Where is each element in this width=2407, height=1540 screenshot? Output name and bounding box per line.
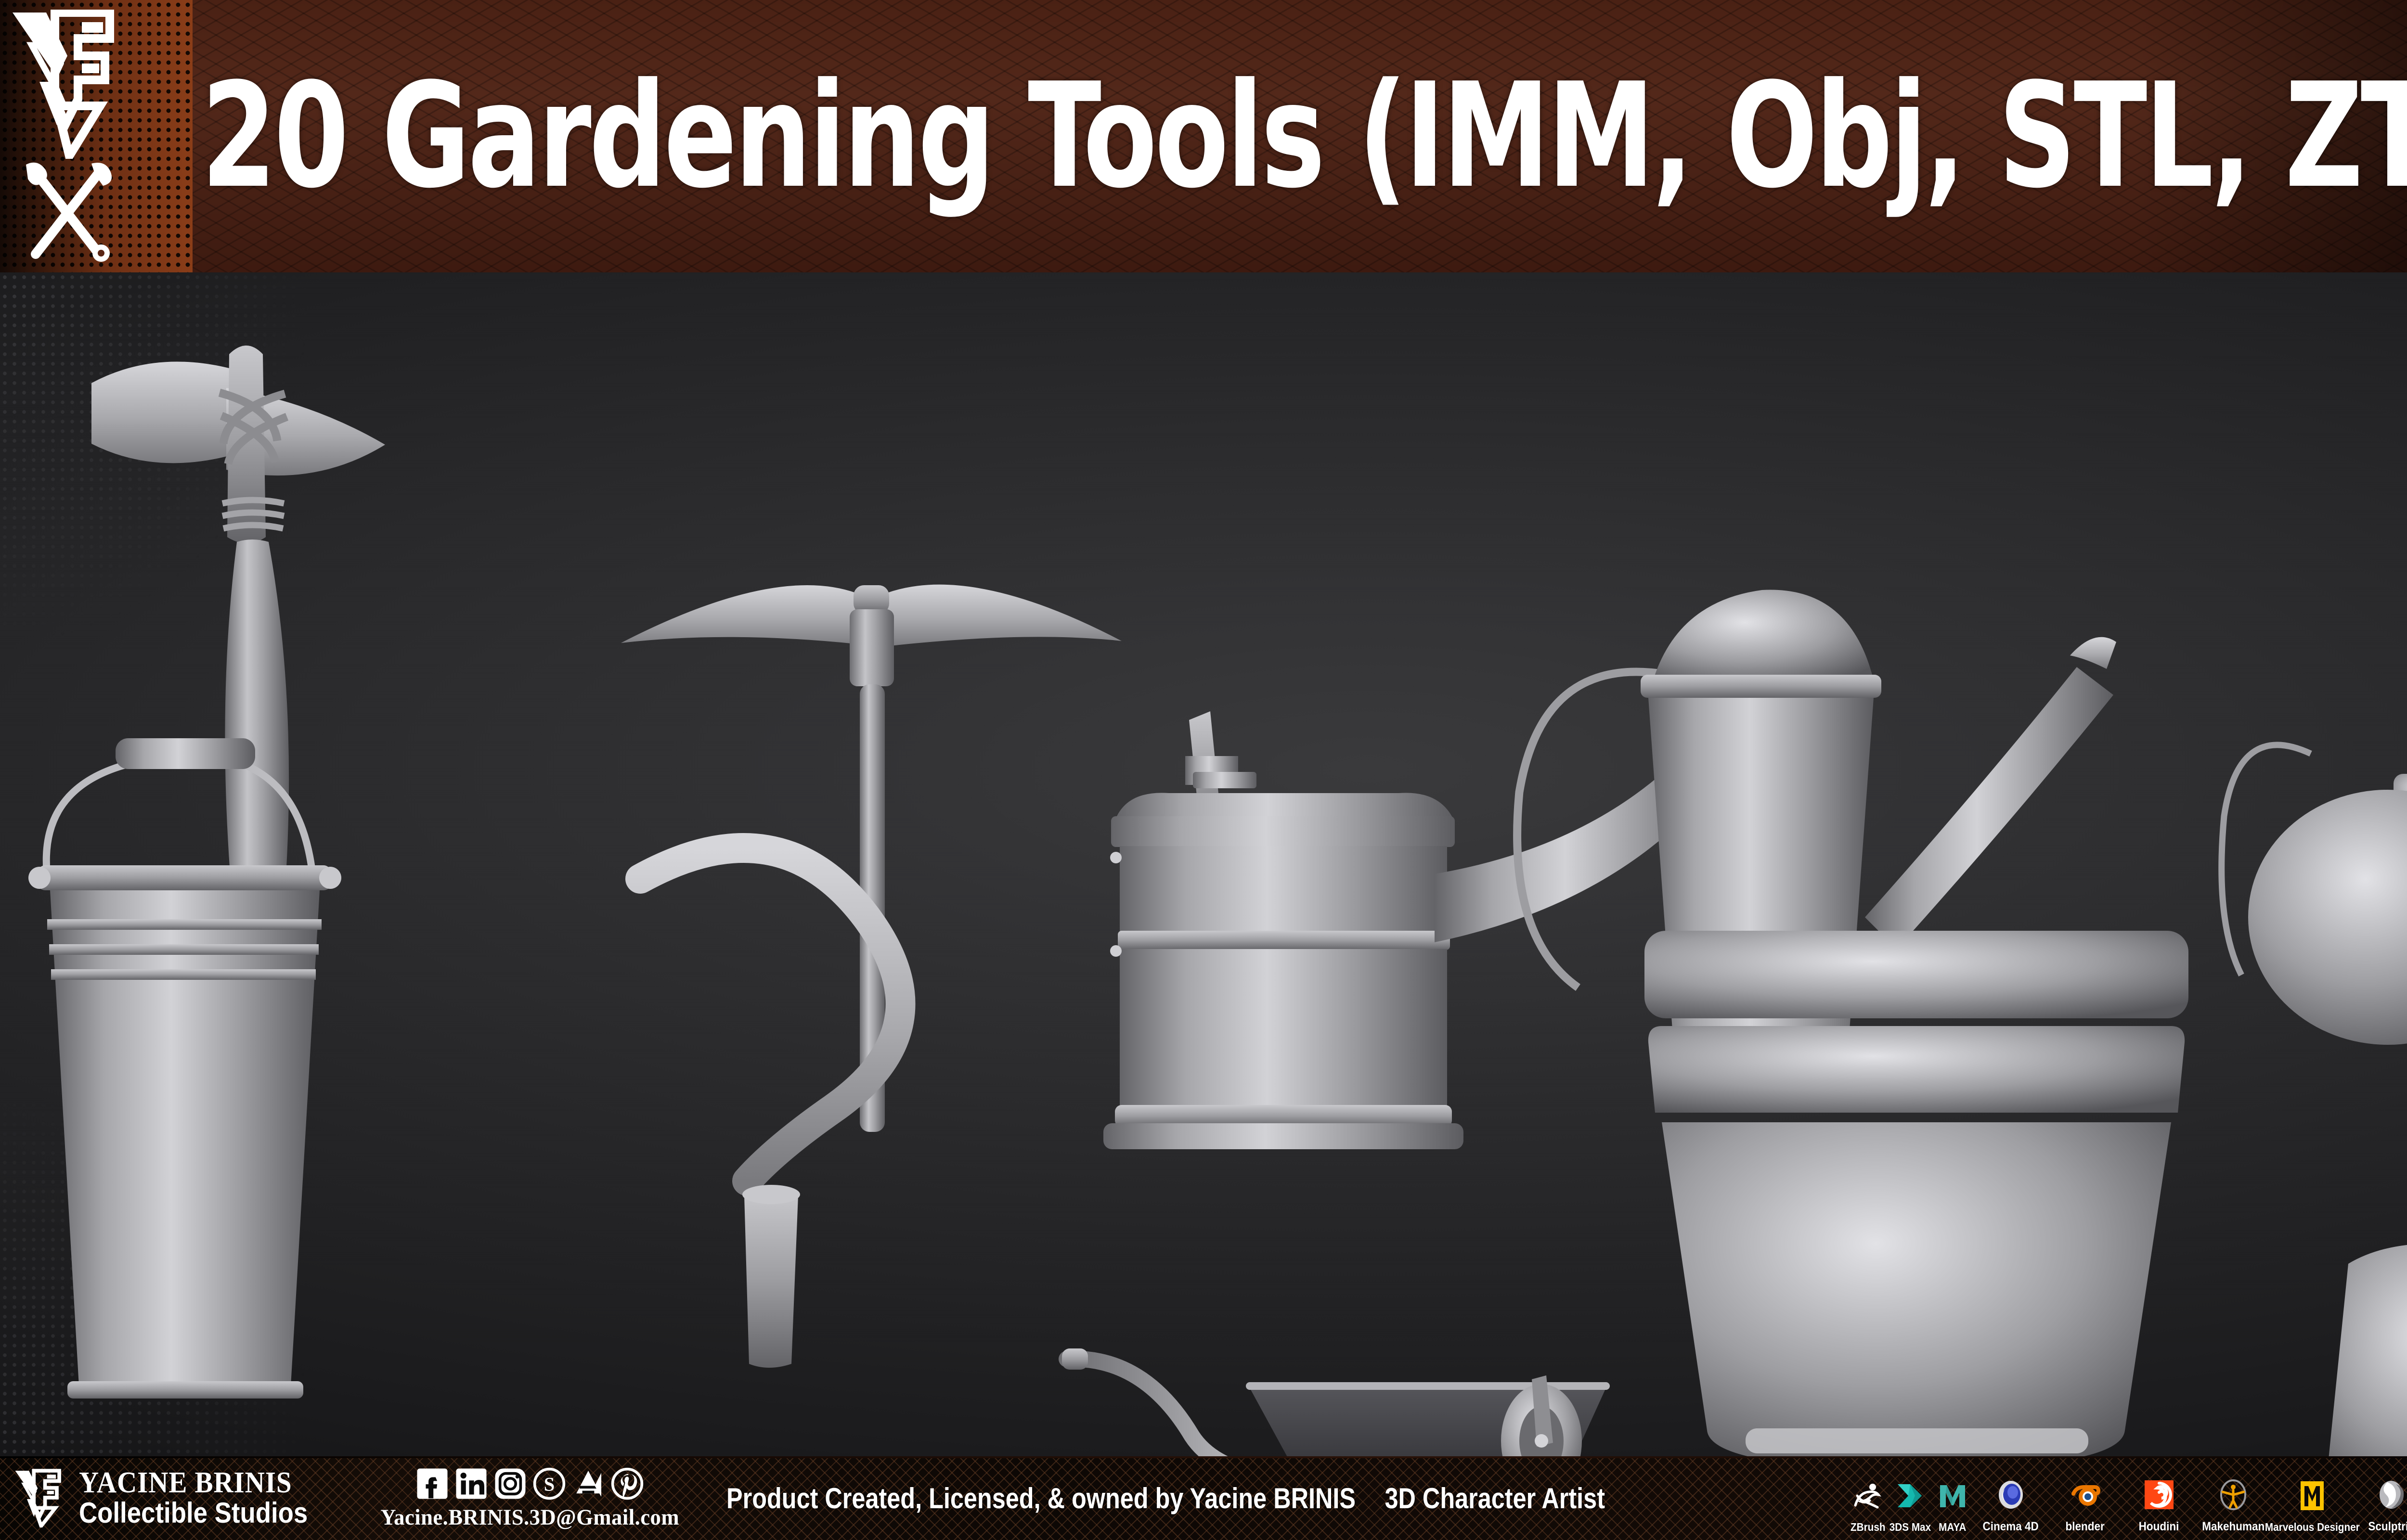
sculptris-icon — [2373, 1471, 2407, 1519]
zbrush-icon — [1850, 1472, 1886, 1520]
software-logo-row: ZBrush 3DS Max MAYA — [1848, 1456, 2407, 1540]
render-stage — [0, 272, 2407, 1456]
software-sculptris: Sculptris — [2355, 1460, 2407, 1537]
studio-name: YACINE BRINIS — [79, 1468, 318, 1498]
3ds-max-icon — [1892, 1472, 1928, 1520]
software-cinema-4d: Cinema 4D — [1975, 1460, 2047, 1537]
contact-email[interactable]: Yacine.BRINIS.3D@Gmail.com — [380, 1504, 679, 1530]
software-label: Sculptris — [2368, 1520, 2407, 1534]
makehuman-icon — [2215, 1471, 2252, 1519]
software-houdini: Houdini — [2123, 1460, 2195, 1537]
model-bucket — [28, 738, 341, 1399]
houdini-icon — [2141, 1471, 2177, 1519]
software-label: blender — [2065, 1520, 2104, 1534]
social-links: S Yacine.BRINIS.3D@Gmail.com — [373, 1466, 687, 1530]
yb-monogram-icon-footer — [13, 1469, 71, 1527]
page-title: 20 Gardening Tools (IMM, Obj, STL, ZTL) … — [193, 0, 2407, 272]
header-logo-panel — [0, 0, 193, 272]
software-label: MAYA — [1939, 1521, 1966, 1534]
blender-icon — [2067, 1471, 2103, 1519]
credit-text: Product Created, Licensed, & owned by Ya… — [726, 1482, 1356, 1515]
software-label: Houdini — [2139, 1520, 2179, 1534]
svg-text:S: S — [544, 1473, 555, 1495]
software-3ds-max: 3DS Max — [1890, 1460, 1930, 1537]
linkedin-icon[interactable] — [454, 1466, 489, 1501]
role-text: 3D Character Artist — [1385, 1482, 1605, 1515]
instagram-icon[interactable] — [493, 1466, 528, 1501]
software-makehuman: Makehuman — [2197, 1460, 2269, 1537]
footer-bar: YACINE BRINIS Collectible Studios — [0, 1456, 2407, 1540]
software-label: Makehuman — [2202, 1520, 2265, 1534]
software-marvelous-designer: Marvelous Designer — [2271, 1460, 2353, 1537]
model-watering-can-gourd — [2222, 745, 2407, 1045]
yb-monogram-icon — [11, 10, 121, 159]
pinterest-icon[interactable] — [610, 1466, 645, 1501]
software-label: Marvelous Designer — [2265, 1521, 2360, 1534]
maya-icon — [1934, 1472, 1971, 1520]
crossed-tools-icon — [19, 159, 116, 267]
software-maya: MAYA — [1932, 1460, 1973, 1537]
studio-subtitle: Collectible Studios — [79, 1498, 308, 1528]
sketchfab-icon[interactable]: S — [532, 1466, 567, 1501]
facebook-icon[interactable] — [415, 1466, 450, 1501]
model-flower-pot — [1644, 931, 2188, 1456]
credit-line: Product Created, Licensed, & owned by Ya… — [726, 1482, 1605, 1515]
software-blender: blender — [2049, 1460, 2121, 1537]
header-banner: 20 Gardening Tools (IMM, Obj, STL, ZTL) … — [0, 0, 2407, 272]
software-zbrush: ZBrush — [1848, 1460, 1888, 1537]
marvelous-designer-icon — [2294, 1472, 2330, 1520]
footer-studio-logo: YACINE BRINIS Collectible Studios — [13, 1468, 339, 1528]
model-wheelbarrow — [1062, 1348, 1649, 1456]
software-label: Cinema 4D — [1983, 1520, 2039, 1534]
software-label: ZBrush — [1851, 1521, 1885, 1534]
artstation-icon[interactable] — [571, 1466, 606, 1501]
cinema-4d-icon — [1993, 1471, 2029, 1519]
software-label: 3DS Max — [1889, 1521, 1931, 1534]
